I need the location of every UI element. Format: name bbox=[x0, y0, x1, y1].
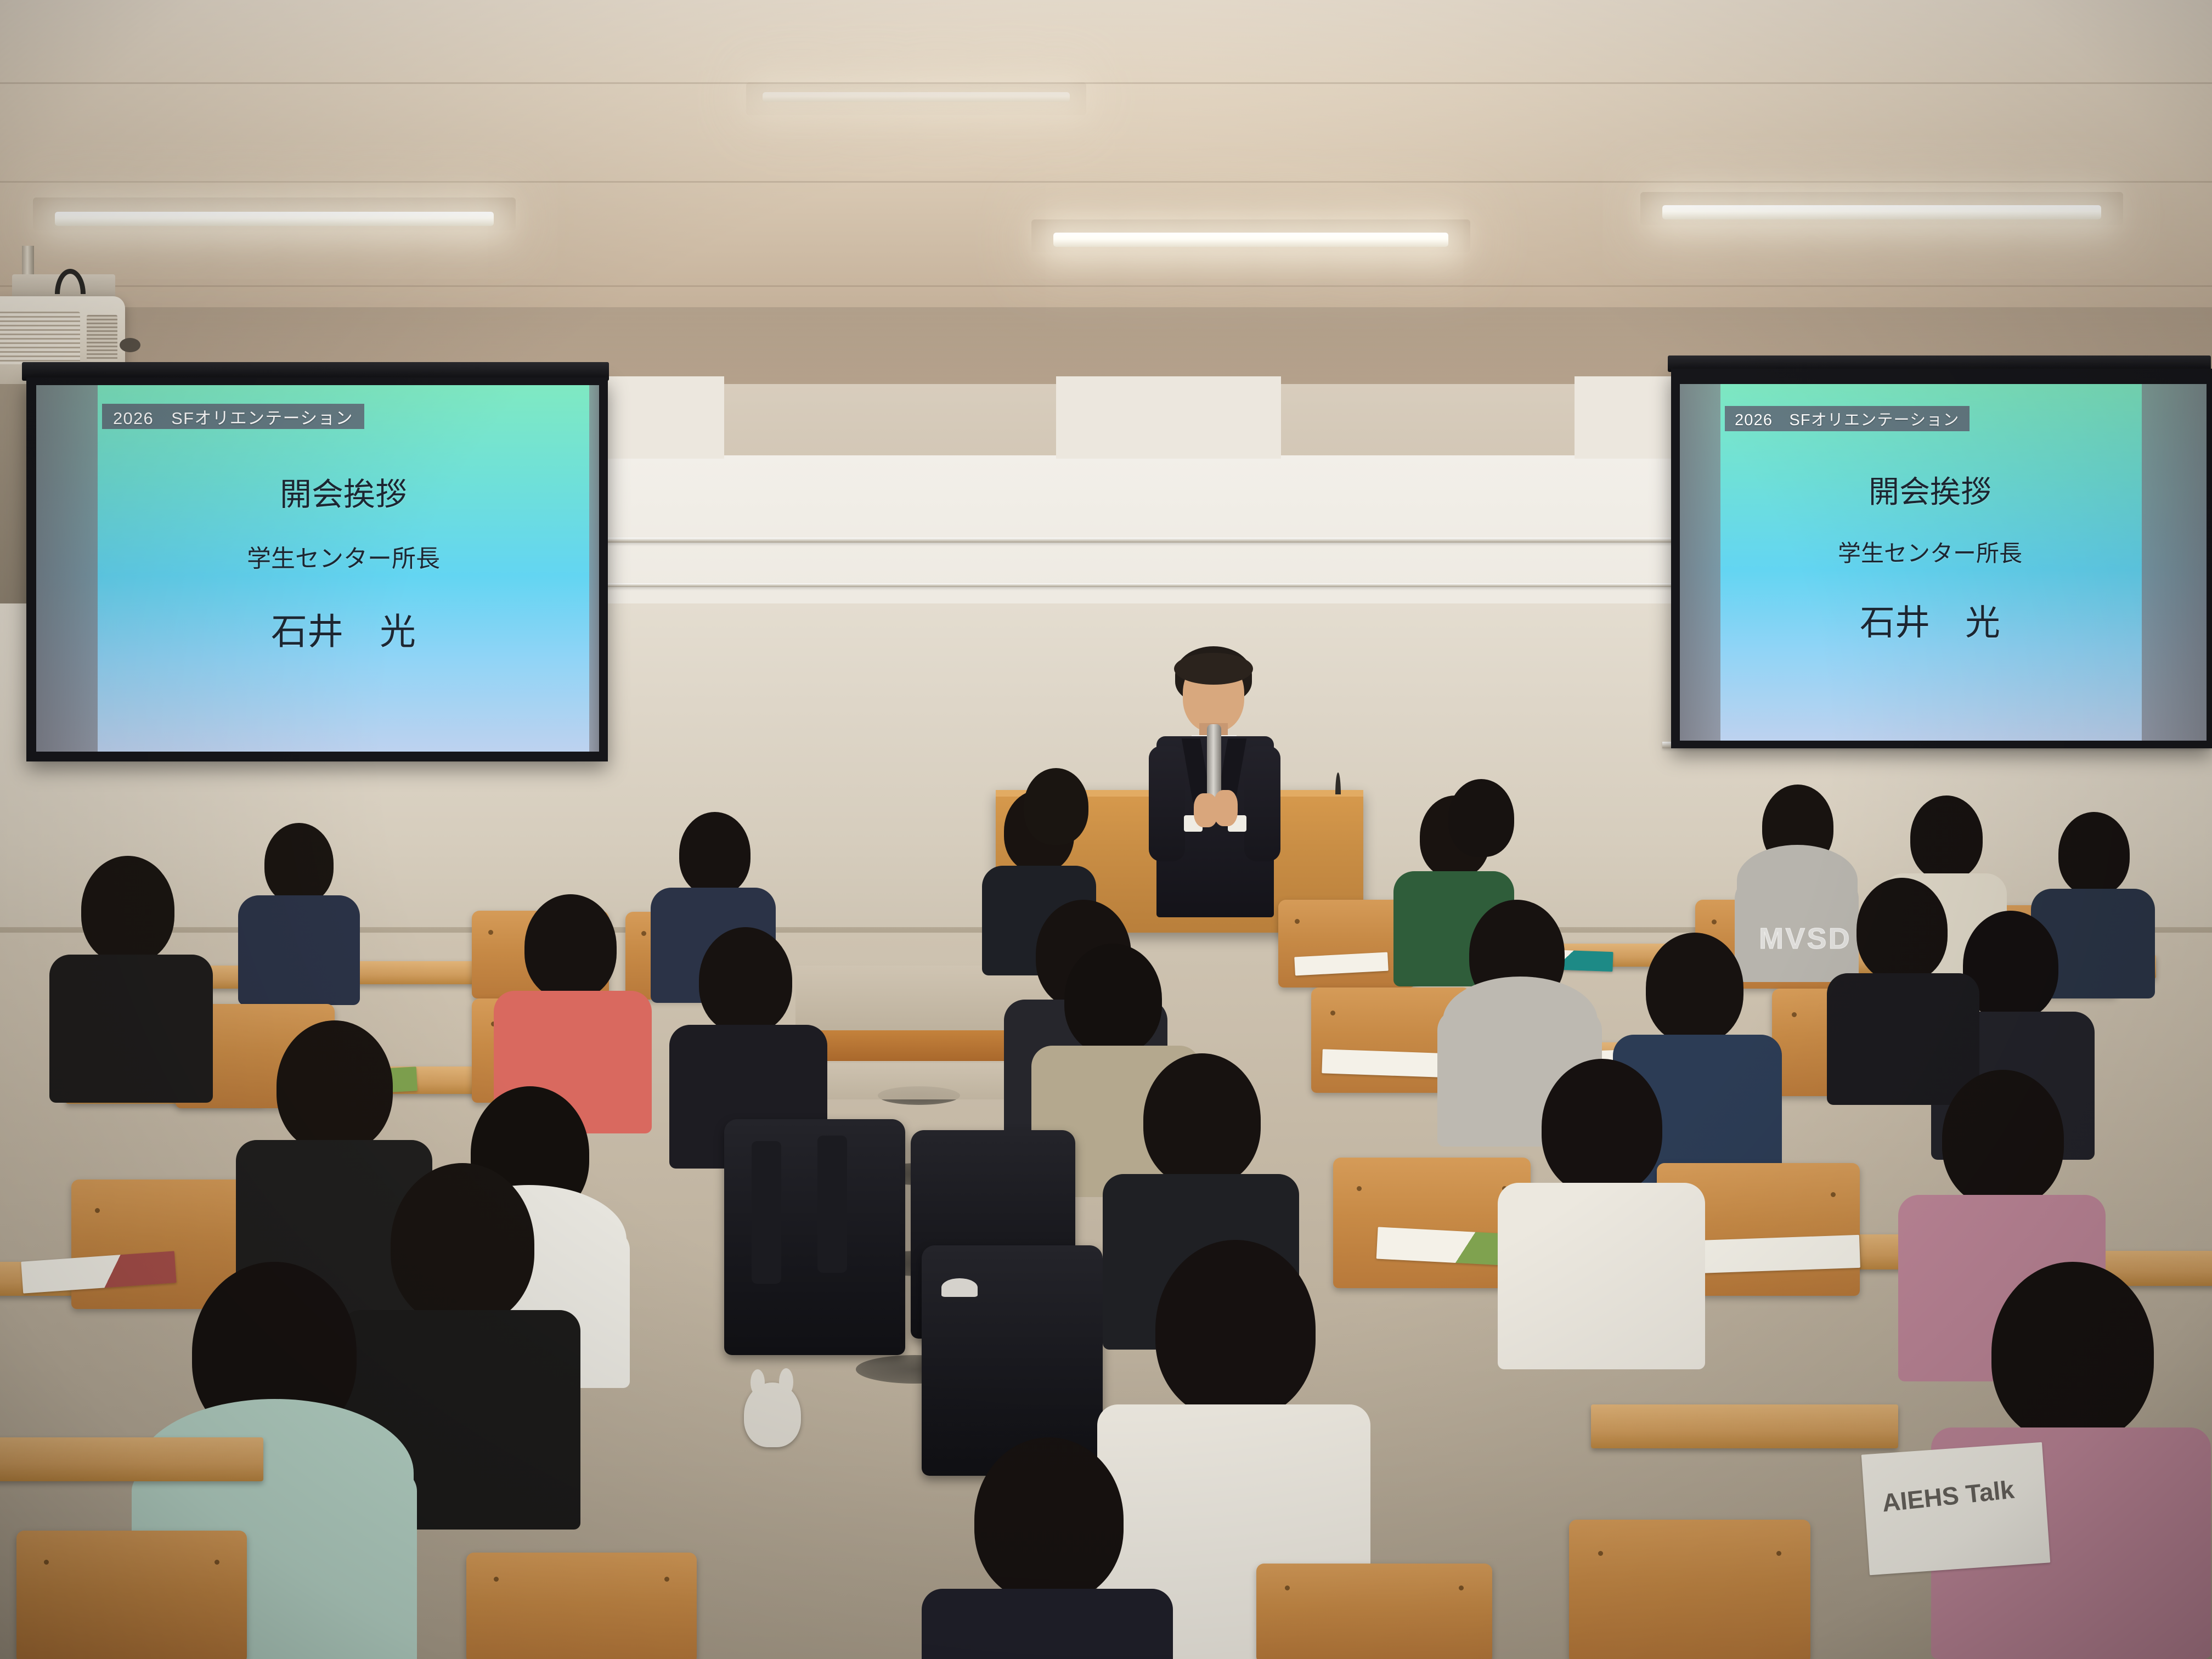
person-head bbox=[679, 812, 751, 895]
person-head bbox=[699, 927, 792, 1034]
slide-line-3: 石井 光 bbox=[1860, 595, 2000, 645]
list-item bbox=[669, 927, 828, 1147]
backpack-strap bbox=[752, 1141, 781, 1284]
person-head bbox=[2058, 812, 2130, 895]
person-head bbox=[1542, 1059, 1662, 1195]
list-item bbox=[922, 1437, 1174, 1659]
person-head bbox=[974, 1437, 1124, 1602]
person-head bbox=[1942, 1070, 2064, 1207]
list-item bbox=[1498, 1059, 1706, 1366]
desk bbox=[1591, 1404, 1898, 1448]
plush-ear bbox=[779, 1368, 793, 1396]
projector-vent bbox=[87, 315, 117, 361]
ceiling-light bbox=[1053, 233, 1448, 247]
list-item bbox=[1827, 878, 1980, 1086]
person-head bbox=[1991, 1262, 2154, 1443]
person-head bbox=[1143, 1053, 1261, 1186]
person-head bbox=[524, 894, 617, 1000]
list-item bbox=[236, 823, 362, 988]
screen-surface: 2026 SFオリエンテーション 開会挨拶 学生センター所長 石井 光 bbox=[1680, 384, 2207, 741]
wall-step bbox=[1056, 376, 1281, 459]
speaker-arm-right bbox=[1244, 746, 1280, 861]
slide-line-2: 学生センター所長 bbox=[1838, 535, 2022, 568]
slide-line-1: 開会挨拶 bbox=[280, 469, 407, 515]
person-head bbox=[1024, 768, 1088, 845]
list-item bbox=[494, 894, 653, 1114]
person-head bbox=[1646, 933, 1743, 1043]
person-head bbox=[81, 856, 174, 963]
ceiling-seam bbox=[0, 82, 2212, 84]
list-item bbox=[1004, 768, 1108, 911]
handout bbox=[1322, 1049, 1440, 1077]
north-face-logo-icon bbox=[941, 1278, 978, 1297]
slide-content: 2026 SFオリエンテーション 開会挨拶 学生センター所長 石井 光 bbox=[36, 385, 599, 752]
desk bbox=[0, 1437, 263, 1481]
backpack-strap bbox=[817, 1136, 847, 1273]
whiteboard-rail bbox=[582, 538, 1673, 543]
handout bbox=[1695, 1235, 1860, 1273]
person-torso bbox=[49, 955, 213, 1103]
whiteboard-rail bbox=[582, 583, 1673, 587]
person-head bbox=[1910, 795, 1983, 880]
ceiling-light bbox=[55, 212, 494, 226]
person-head bbox=[1064, 944, 1162, 1054]
speaker-hand bbox=[1214, 790, 1238, 826]
seat-back[interactable] bbox=[466, 1553, 697, 1659]
lecture-hall-photo: 2026 SFオリエンテーション 開会挨拶 学生センター所長 石井 光 2026… bbox=[0, 0, 2212, 1659]
ceiling-seam bbox=[0, 285, 2212, 287]
person-head bbox=[276, 1020, 393, 1152]
seat-back[interactable] bbox=[16, 1531, 247, 1659]
person-torso bbox=[1498, 1183, 1705, 1369]
projector-lens-icon bbox=[120, 338, 140, 352]
person-head bbox=[1448, 779, 1514, 857]
slide-header: 2026 SFオリエンテーション bbox=[102, 404, 364, 429]
slide-line-3: 石井 光 bbox=[271, 602, 416, 655]
ceiling-light bbox=[1662, 205, 2101, 219]
ceiling-light bbox=[763, 92, 1070, 102]
wall-step bbox=[1575, 376, 1673, 459]
speaker-figure bbox=[1130, 658, 1295, 916]
slide-header: 2026 SFオリエンテーション bbox=[1725, 406, 1970, 431]
speaker-hair bbox=[1174, 653, 1253, 685]
ceiling-seam bbox=[0, 181, 2212, 183]
person-head bbox=[1857, 878, 1948, 982]
speaker-arm-left bbox=[1149, 746, 1185, 861]
slide-line-2: 学生センター所長 bbox=[247, 539, 440, 574]
person-head bbox=[264, 823, 334, 904]
seat-back[interactable] bbox=[1256, 1564, 1492, 1659]
projector-vent bbox=[0, 312, 80, 364]
seat-back[interactable] bbox=[1569, 1520, 1810, 1659]
list-item bbox=[49, 856, 214, 1086]
person-head bbox=[1155, 1240, 1316, 1419]
person-torso bbox=[238, 895, 360, 1005]
slide-line-1: 開会挨拶 bbox=[1869, 467, 1991, 512]
plush-ear bbox=[751, 1369, 765, 1396]
person-torso bbox=[922, 1589, 1173, 1659]
slide-content: 2026 SFオリエンテーション 開会挨拶 学生センター所長 石井 光 bbox=[1680, 384, 2207, 741]
screen-surface: 2026 SFオリエンテーション 開会挨拶 学生センター所長 石井 光 bbox=[36, 385, 599, 752]
